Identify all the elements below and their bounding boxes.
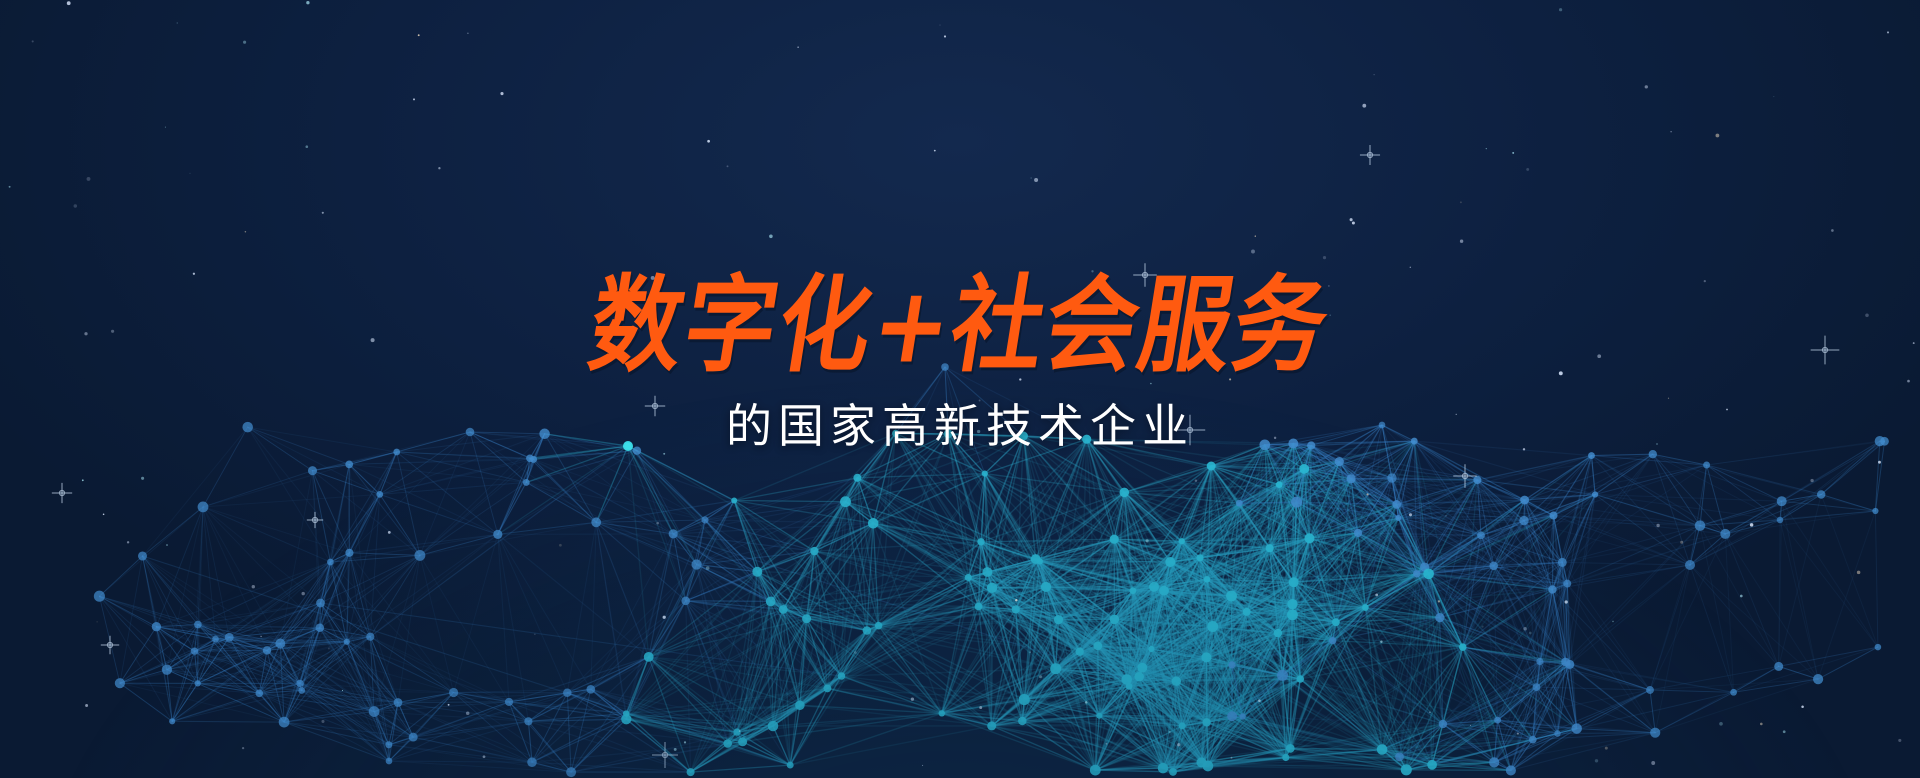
banner-text-block: 数字化+社会服务 的国家高新技术企业 (0, 278, 1920, 451)
hero-banner: 数字化+社会服务 的国家高新技术企业 (0, 0, 1920, 778)
banner-subtitle: 的国家高新技术企业 (0, 401, 1920, 452)
banner-headline: 数字化+社会服务 (583, 271, 1338, 381)
